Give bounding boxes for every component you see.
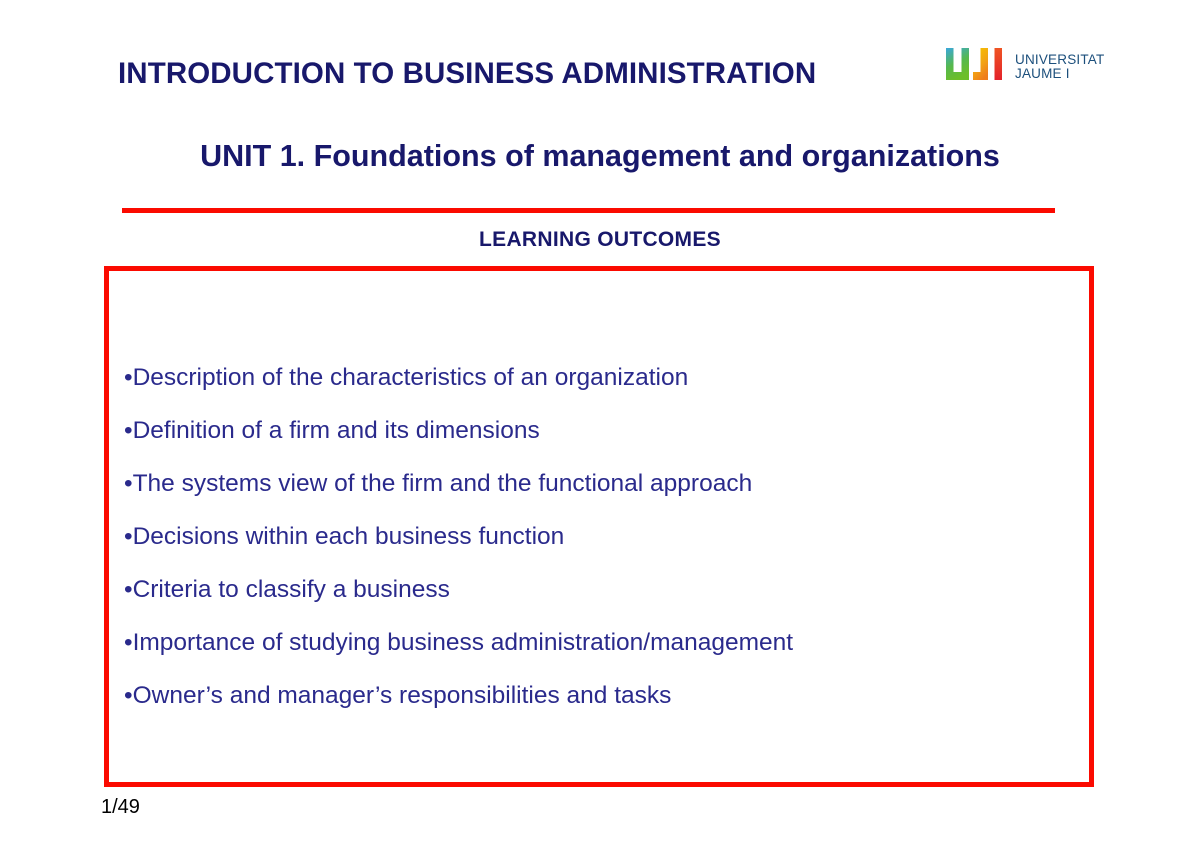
list-item-label: The systems view of the firm and the fun… bbox=[133, 470, 753, 497]
list-item: •Description of the characteristics of a… bbox=[124, 366, 1024, 391]
bullet-icon: • bbox=[124, 470, 133, 497]
unit-title: UNIT 1. Foundations of management and or… bbox=[0, 139, 1200, 174]
list-item: •Definition of a firm and its dimensions bbox=[124, 419, 1024, 444]
bullet-icon: • bbox=[124, 682, 133, 709]
list-item-label: Description of the characteristics of an… bbox=[133, 364, 689, 391]
uji-wordmark-line2: JAUME I bbox=[1015, 67, 1104, 81]
list-item-label: Decisions within each business function bbox=[133, 523, 565, 550]
bullet-icon: • bbox=[124, 417, 133, 444]
red-divider bbox=[122, 208, 1055, 213]
bullet-icon: • bbox=[124, 364, 133, 391]
list-item: •Criteria to classify a business bbox=[124, 578, 1024, 603]
list-item: •Decisions within each business function bbox=[124, 525, 1024, 550]
uji-logo-mark-icon bbox=[946, 48, 1006, 86]
list-item-label: Importance of studying business administ… bbox=[133, 629, 794, 656]
learning-outcomes-list: •Description of the characteristics of a… bbox=[124, 366, 1024, 737]
page-number: 1/49 bbox=[101, 796, 140, 819]
page-title: INTRODUCTION TO BUSINESS ADMINISTRATION bbox=[118, 57, 816, 91]
uji-logo: UNIVERSITAT JAUME I bbox=[946, 48, 1104, 86]
uji-wordmark: UNIVERSITAT JAUME I bbox=[1015, 53, 1104, 81]
list-item: •The systems view of the firm and the fu… bbox=[124, 472, 1024, 497]
section-label-learning-outcomes: LEARNING OUTCOMES bbox=[0, 228, 1200, 252]
list-item: •Owner’s and manager’s responsibilities … bbox=[124, 684, 1024, 709]
list-item-label: Definition of a firm and its dimensions bbox=[133, 417, 540, 444]
list-item-label: Owner’s and manager’s responsibilities a… bbox=[133, 682, 672, 709]
list-item-label: Criteria to classify a business bbox=[133, 576, 450, 603]
list-item: •Importance of studying business adminis… bbox=[124, 631, 1024, 656]
slide: INTRODUCTION TO BUSINESS ADMINISTRATION bbox=[0, 0, 1200, 849]
bullet-icon: • bbox=[124, 629, 133, 656]
bullet-icon: • bbox=[124, 523, 133, 550]
uji-wordmark-line1: UNIVERSITAT bbox=[1015, 53, 1104, 67]
bullet-icon: • bbox=[124, 576, 133, 603]
